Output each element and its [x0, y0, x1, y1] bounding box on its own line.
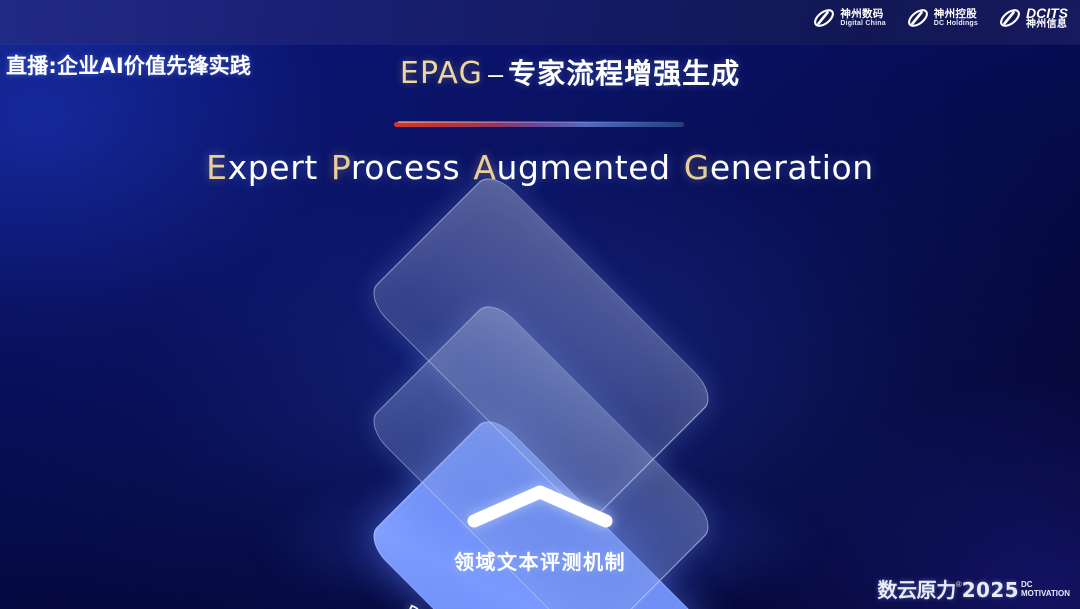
- partner-text: 神州数码 Digital China: [840, 9, 885, 28]
- expansion-cap-p: P: [331, 148, 351, 187]
- partner-logo-digital-china: 神州数码 Digital China: [812, 6, 885, 30]
- slide-canvas: 数云原力 ® 2025 DC MOTIVATION 直播:企业AI价值先锋实践 …: [0, 0, 1080, 609]
- expansion-rest-augmented: ugmented: [497, 148, 671, 187]
- layer-stack-diagram: 领域文本评测机制 Dynamic MOE 长文本记忆 三类语义建模模块: [0, 215, 1080, 585]
- swirl-logo-icon: [998, 6, 1022, 30]
- partner-logo-dc-holdings: 神州控股 DC Holdings: [906, 6, 978, 30]
- watermark-year: 2025: [962, 577, 1019, 603]
- partner-logo-group: 神州数码 Digital China 神州控股 DC Holdings: [812, 6, 1068, 31]
- title-chinese: 专家流程增强生成: [508, 57, 740, 90]
- partner-name-cn: 神州数码: [840, 9, 885, 20]
- partner-text: DCITS 神州信息: [1026, 6, 1068, 31]
- expansion-cap-g: G: [684, 148, 710, 187]
- title-dash: –: [488, 59, 503, 89]
- corner-watermark: 数云原力 ® 2025 DC MOTIVATION: [877, 577, 1070, 603]
- watermark-tag-motivation: MOTIVATION: [1021, 590, 1070, 599]
- chevron-up-icon: [465, 483, 615, 529]
- expansion-cap-a: A: [473, 148, 496, 187]
- watermark-tagline: DC MOTIVATION: [1021, 581, 1070, 598]
- swirl-logo-icon: [812, 6, 836, 30]
- expansion-rest-generation: eneration: [710, 148, 874, 187]
- title-divider: [394, 122, 684, 127]
- partner-name-cn: 神州控股: [934, 9, 978, 20]
- watermark-name-cn: 数云原力: [877, 577, 955, 603]
- expansion-cap-e: E: [206, 148, 227, 187]
- acronym-expansion: ExpertProcessAugmentedGeneration: [0, 148, 1080, 187]
- layer-label-top: 领域文本评测机制: [0, 546, 1080, 575]
- broadcast-title: 直播:企业AI价值先锋实践: [6, 50, 251, 80]
- expansion-rest-process: rocess: [351, 148, 460, 187]
- partner-name-en: Digital China: [840, 20, 885, 28]
- partner-name-cn: 神州信息: [1026, 20, 1068, 31]
- expansion-rest-expert: xpert: [228, 148, 318, 187]
- partner-logo-dcits: DCITS 神州信息: [998, 6, 1068, 31]
- title-acronym: EPAG: [400, 56, 483, 91]
- partner-name-en: DC Holdings: [934, 20, 978, 28]
- partner-text: 神州控股 DC Holdings: [934, 9, 978, 28]
- swirl-logo-icon: [906, 6, 930, 30]
- partner-name-en: DCITS: [1026, 6, 1068, 20]
